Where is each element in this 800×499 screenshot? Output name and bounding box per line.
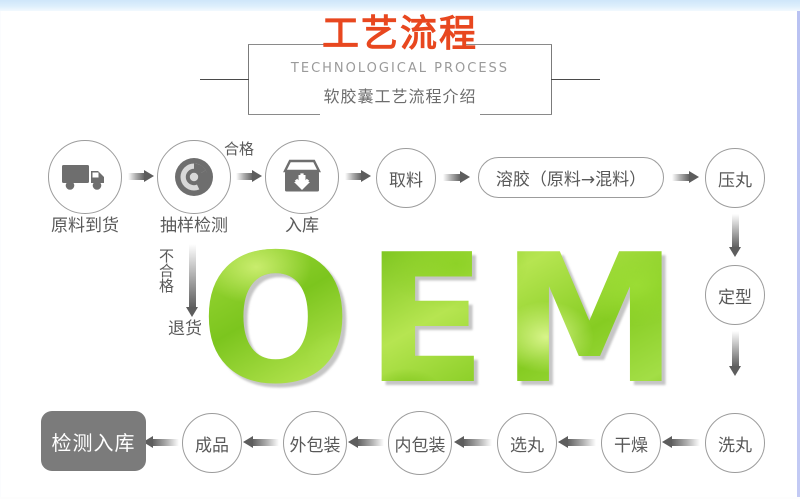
arrow-drying-to-sorting [558,436,596,449]
truck-icon [61,162,109,192]
header-text-group: 工艺流程 TECHNOLOGICAL PROCESS 软胶囊工艺流程介绍 [245,16,555,112]
inbox-down-arrow-icon [282,159,322,195]
caption-sampling-inspection: 抽样检测 [137,216,251,236]
process-flow-infographic: 工艺流程 TECHNOLOGICAL PROCESS 软胶囊工艺流程介绍 OEM… [0,0,800,499]
arrow-warehousing-to-picking [345,170,371,183]
node-raw-material-arrival[interactable] [48,140,122,214]
oem-watermark-text: OEM [196,232,696,407]
page-subtitle-en: TECHNOLOGICAL PROCESS [245,60,555,78]
node-pill-pressing[interactable]: 压丸 [705,148,765,208]
header-block: 工艺流程 TECHNOLOGICAL PROCESS 软胶囊工艺流程介绍 [0,16,800,112]
arrow-shaping-to-washing [729,331,742,377]
label-pass: 合格 [224,140,254,158]
arrow-inner-to-outer-packaging [348,436,384,449]
node-sampling-inspection[interactable] [157,140,231,214]
arrow-finished-to-inspect-store [143,436,179,449]
node-finished-product[interactable]: 成品 [182,413,242,473]
node-return-goods[interactable]: 退货 [168,320,202,338]
node-inner-packaging[interactable]: 内包装 [388,411,452,475]
top-color-band [0,0,800,11]
arrow-washing-to-drying [662,436,700,449]
header-rule-right-outer [551,79,600,80]
arrow-outer-packaging-to-finished [243,436,279,449]
page-title: 工艺流程 [245,12,555,56]
header-bracket-right-bottom-rule [480,114,552,115]
node-gel-melting[interactable]: 溶胶（原料→混料） [478,157,664,198]
label-reject-vertical: 不合格 [156,248,177,293]
arrow-sorting-to-inner-packaging [454,436,492,449]
node-pill-sorting[interactable]: 选丸 [497,413,557,473]
arrow-arrival-to-sampling [128,170,154,183]
node-drying[interactable]: 干燥 [601,413,661,473]
node-shaping[interactable]: 定型 [705,265,765,325]
node-inspect-and-store[interactable]: 检测入库 [41,411,146,471]
inspection-chuck-icon [173,156,215,198]
header-rule-left-outer [200,79,249,80]
node-warehousing[interactable] [265,140,339,214]
node-outer-packaging[interactable]: 外包装 [283,411,347,475]
node-material-picking[interactable]: 取料 [376,148,436,208]
arrow-pressing-to-shaping [729,214,742,258]
node-pill-washing[interactable]: 洗丸 [705,413,765,473]
caption-raw-material-arrival: 原料到货 [28,216,142,236]
arrow-gel-melting-to-pressing [672,171,700,184]
page-subtitle-cn: 软胶囊工艺流程介绍 [245,86,555,108]
caption-warehousing: 入库 [245,216,359,236]
header-bracket-left-bottom-rule [248,114,320,115]
arrow-sampling-to-warehousing [236,170,262,183]
arrow-picking-to-gel-melting [443,171,471,184]
arrow-sampling-to-return [186,244,199,318]
